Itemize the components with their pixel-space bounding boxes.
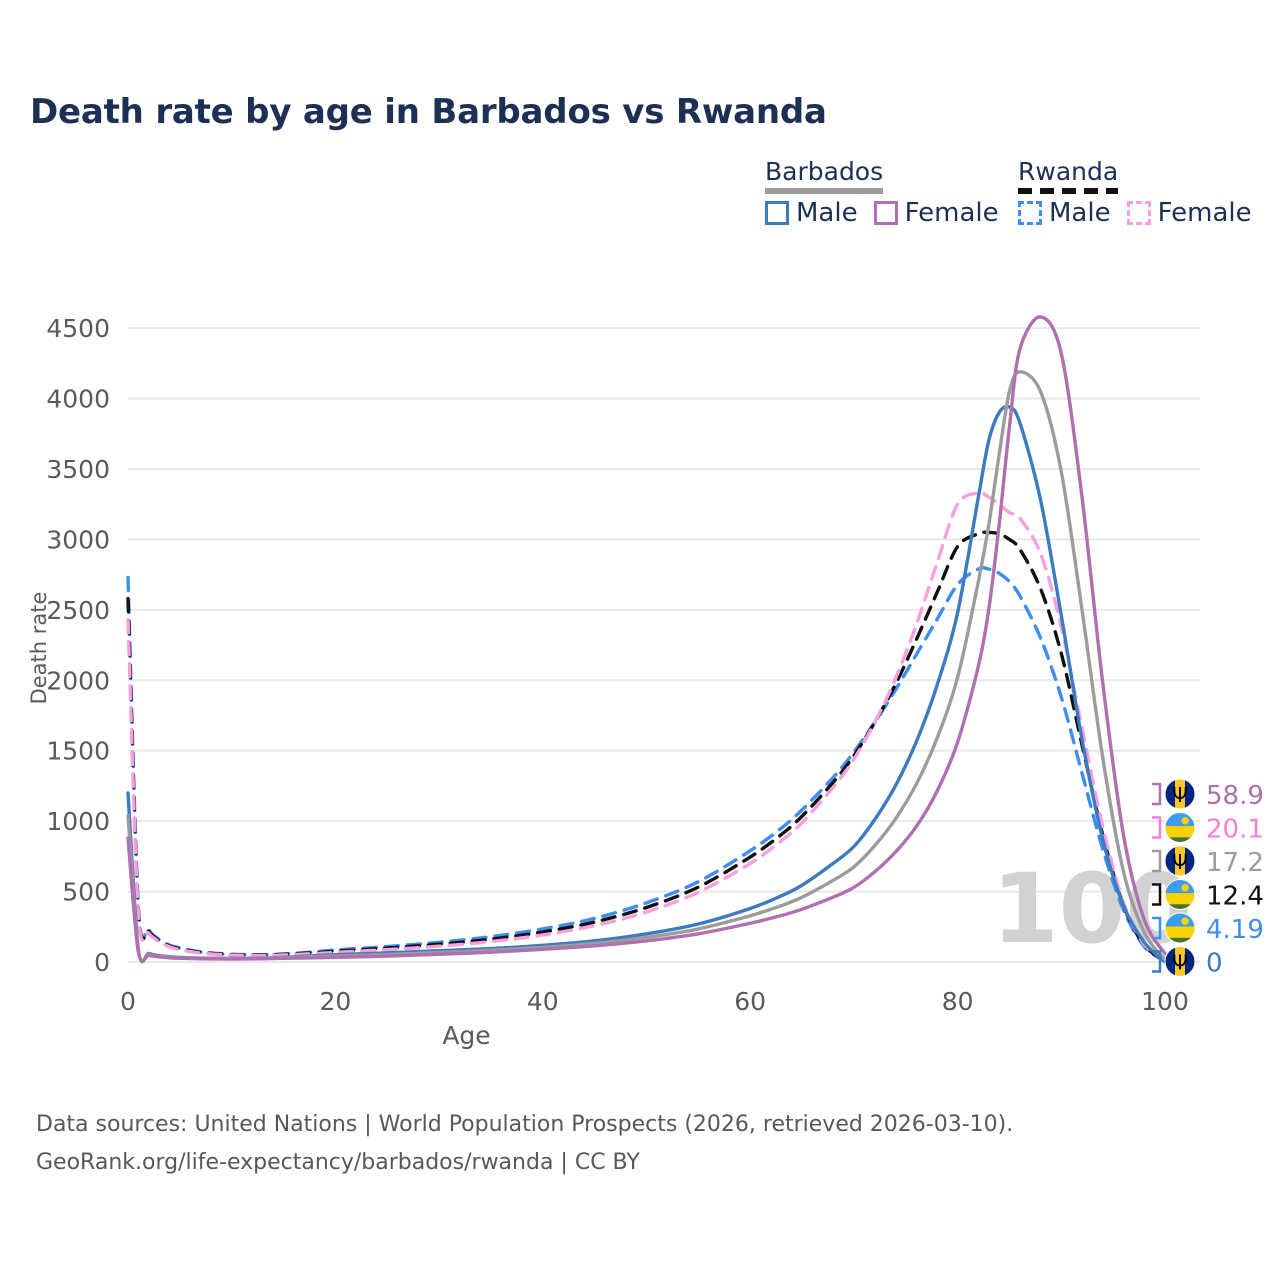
x-axis-tick-label: 100: [1141, 987, 1189, 1016]
y-axis-tick-label: 1500: [46, 737, 110, 766]
end-label-value: 17.2: [1206, 848, 1264, 878]
x-axis-title: Age: [442, 1021, 490, 1050]
y-axis-title: Death rate: [27, 592, 51, 705]
footer-line-1: Data sources: United Nations | World Pop…: [36, 1106, 1013, 1144]
end-label-value: 12.4: [1206, 882, 1264, 912]
x-axis-tick-label: 20: [319, 987, 351, 1016]
svg-text:Ψ: Ψ: [1172, 951, 1188, 975]
x-axis-ticks: 020406080100: [120, 987, 1189, 1016]
x-axis-tick-label: 80: [942, 987, 974, 1016]
y-axis-tick-label: 2500: [46, 596, 110, 625]
y-axis-tick-label: 3000: [46, 525, 110, 554]
end-label-value: 4.19: [1206, 915, 1264, 945]
end-label-value: 0: [1206, 949, 1223, 979]
y-axis-tick-label: 0: [94, 948, 110, 977]
y-axis-ticks: 050010001500200025003000350040004500: [46, 314, 110, 977]
y-axis-tick-label: 1000: [46, 807, 110, 836]
footer-line-2: GeoRank.org/life-expectancy/barbados/rwa…: [36, 1144, 1013, 1182]
svg-text:Ψ: Ψ: [1172, 783, 1188, 807]
svg-text:Ψ: Ψ: [1172, 850, 1188, 874]
end-label-value: 20.1: [1206, 815, 1264, 845]
x-axis-tick-label: 40: [527, 987, 559, 1016]
x-axis-tick-label: 60: [734, 987, 766, 1016]
end-label-leader: [1152, 784, 1160, 804]
y-axis-tick-label: 3500: [46, 455, 110, 484]
y-axis-tick-label: 500: [62, 878, 110, 907]
chart-svg: 100 050010001500200025003000350040004500…: [0, 0, 1280, 1280]
y-axis-tick-label: 4000: [46, 385, 110, 414]
y-axis-tick-label: 2000: [46, 666, 110, 695]
x-axis-tick-label: 0: [120, 987, 136, 1016]
y-axis-tick-label: 4500: [46, 314, 110, 343]
footer-sources: Data sources: United Nations | World Pop…: [36, 1106, 1013, 1182]
end-label-value: 58.9: [1206, 781, 1264, 811]
chart-plot-area: 100 050010001500200025003000350040004500…: [0, 0, 1280, 1280]
